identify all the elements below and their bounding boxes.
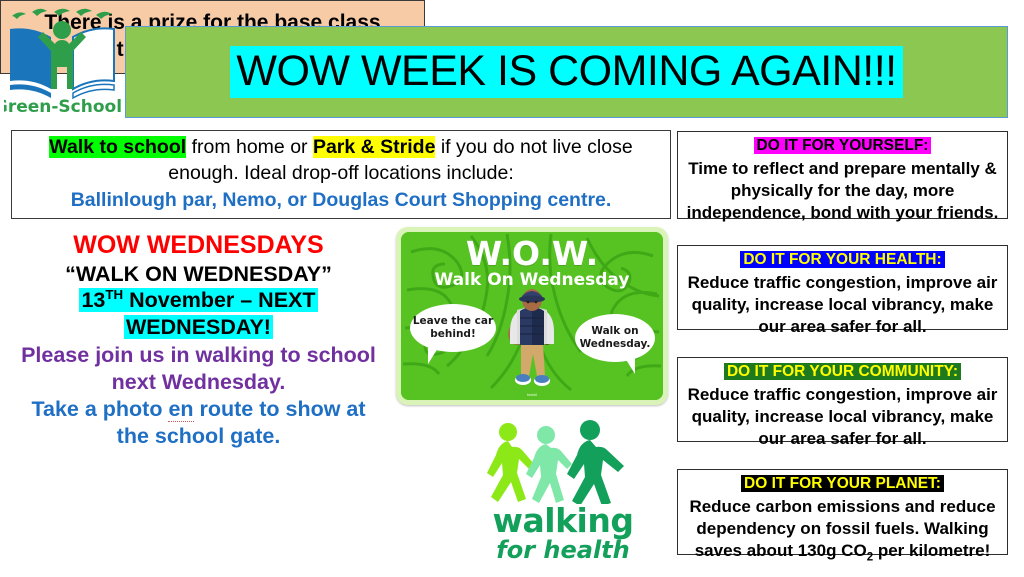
benefit-box-community: DO IT FOR YOUR COMMUNITY: Reduce traffic… (677, 357, 1008, 442)
park-and-stride-highlight: Park & Stride (313, 136, 435, 158)
intro-part2: from home or (186, 136, 313, 158)
benefit-body-health: Reduce traffic congestion, improve air q… (684, 272, 1001, 337)
speech-bubble-right-tail (625, 358, 635, 374)
photo-line-1: Take a photo en route to show at (6, 396, 391, 423)
page-title: WOW WEEK IS COMING AGAIN!!! (230, 46, 902, 97)
walking-for-health-logo: walking for health (468, 420, 658, 570)
date-line-2-text: WEDNESDAY! (124, 315, 273, 339)
photo-line-1c: route to show at (194, 397, 366, 421)
benefit-box-planet: DO IT FOR YOUR PLANET: Reduce carbon emi… (677, 469, 1008, 555)
photo-line-1b: en (168, 397, 193, 422)
join-us-line-1: Please join us in walking to school (6, 342, 391, 369)
poster-credit: twinkl (401, 392, 663, 397)
benefit-body-community: Reduce traffic congestion, improve air q… (684, 384, 1001, 449)
wow-wednesdays-block: WOW WEDNESDAYS “WALK ON WEDNESDAY” 13TH … (6, 231, 391, 449)
event-date-line: 13TH November – NEXT (6, 287, 391, 314)
date-rest: November – NEXT (123, 288, 315, 312)
intro-paragraph: Walk to school from home or Park & Strid… (20, 135, 662, 213)
speech-bubble-left: Leave the car behind! (410, 304, 496, 352)
speech-bubble-right: Walk on Wednesday. (575, 314, 655, 362)
date-suffix: TH (105, 287, 123, 302)
logo-wordmark: Green-Schools (4, 97, 122, 117)
walk-to-school-highlight: Walk to school (49, 136, 186, 158)
date-day: 13 (81, 288, 105, 312)
walk-on-wednesday-subheading: “WALK ON WEDNESDAY” (6, 261, 391, 287)
speech-bubble-left-tail (428, 348, 438, 364)
benefit-body-planet-b: per kilometre! (873, 541, 990, 560)
join-us-line-2: next Wednesday. (6, 369, 391, 396)
benefit-body-yourself: Time to reflect and prepare mentally & p… (684, 158, 1001, 223)
wow-poster-image: W.O.W. Walk On Wednesday (396, 227, 668, 405)
benefit-box-yourself: DO IT FOR YOURSELF: Time to reflect and … (677, 131, 1008, 219)
header-banner: WOW WEEK IS COMING AGAIN!!! (125, 26, 1008, 118)
benefit-heading-yourself: DO IT FOR YOURSELF: (754, 137, 932, 154)
walking-for-health-wordmark: walking for health (468, 504, 658, 562)
benefit-heading-planet: DO IT FOR YOUR PLANET: (741, 475, 944, 492)
benefit-body-planet: Reduce carbon emissions and reduce depen… (684, 496, 1001, 565)
wow-wednesdays-heading: WOW WEDNESDAYS (6, 231, 391, 261)
photo-line-1a: Take a photo (31, 397, 168, 421)
walking-figures-icon (468, 420, 658, 504)
speech-bubble-right-text: Walk on Wednesday. (575, 325, 655, 351)
speech-bubble-left-text: Leave the car behind! (410, 315, 496, 341)
benefit-box-health: DO IT FOR YOUR HEALTH: Reduce traffic co… (677, 245, 1008, 330)
dropoff-locations: Ballinlough par, Nemo, or Douglas Court … (20, 188, 662, 214)
for-health-word: for health (468, 538, 658, 562)
walking-word: walking (468, 504, 658, 537)
wow-poster-title: W.O.W. (401, 237, 663, 270)
green-schools-logo: Green-Schools (4, 2, 122, 118)
photo-line-2: the school gate. (6, 423, 391, 450)
benefit-heading-health: DO IT FOR YOUR HEALTH: (740, 251, 944, 268)
event-date-line-2: WEDNESDAY! (6, 314, 391, 341)
benefit-heading-community: DO IT FOR YOUR COMMUNITY: (724, 363, 961, 380)
walking-child-illustration (501, 286, 563, 390)
bird-icons (12, 9, 112, 19)
poster-page: Green-Schools WOW WEEK IS COMING AGAIN!!… (0, 0, 1024, 577)
intro-text-box: Walk to school from home or Park & Strid… (11, 130, 671, 219)
